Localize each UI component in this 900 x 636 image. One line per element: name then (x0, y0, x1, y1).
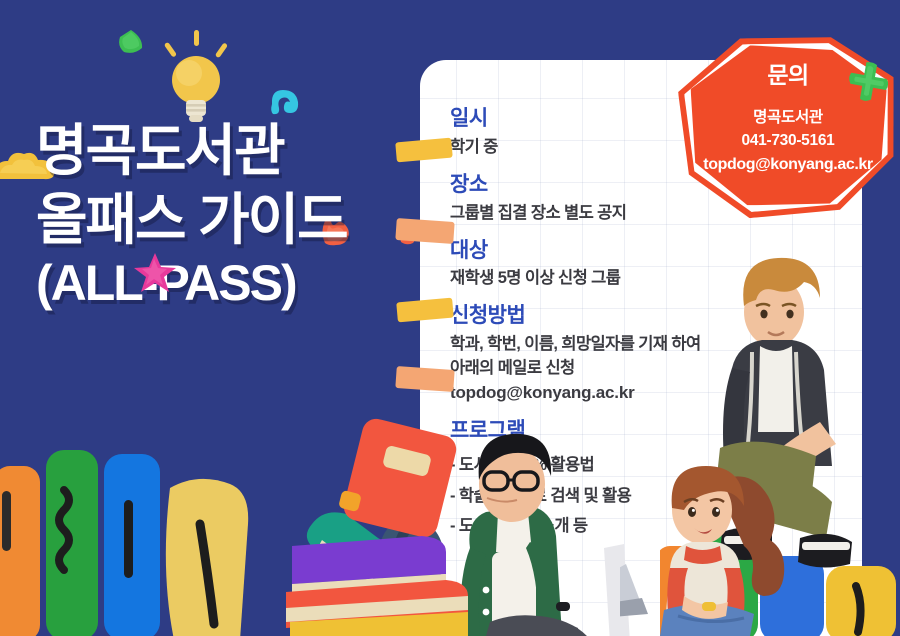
title-line-3: (ALL-PASS) (36, 258, 436, 309)
tape-marker-peach-1 (395, 218, 454, 244)
poster-canvas: 일시 학기 중 장소 그룹별 집결 장소 별도 공지 대상 재학생 5명 이상 … (0, 0, 900, 636)
section-heading: 프로그램 (450, 418, 850, 445)
pink-star-icon (133, 252, 177, 294)
section-line: 아래의 메일로 신청 (450, 357, 850, 381)
badge-org: 명곡도서관 (753, 106, 823, 129)
title-line-2: 올패스 가이드 (36, 191, 436, 248)
badge-email: topdog@konyang.ac.kr (703, 153, 872, 177)
application-email: topdog@konyang.ac.kr (450, 381, 850, 406)
badge-phone: 041-730-5161 (742, 129, 835, 152)
program-item: - 학술전자자료 검색 및 활용 (450, 485, 850, 509)
giant-books-row (0, 450, 248, 636)
info-section-howto: 신청방법 학과, 학번, 이름, 희망일자를 기재 하여 아래의 메일로 신청 … (450, 303, 850, 405)
program-list: - 도서관 100% 활용법 - 학술전자자료 검색 및 활용 - 도서관 관내… (450, 454, 850, 540)
green-triangle-icon (116, 28, 146, 56)
info-section-target: 대상 재학생 5명 이상 신청 그룹 (450, 238, 850, 292)
program-item: - 도서관 관내 소개 등 (450, 515, 850, 539)
cyan-curve-icon (268, 86, 302, 116)
section-line: 학과, 학번, 이름, 희망일자를 기재 하여 (450, 333, 850, 357)
poster-title: 명곡도서관 올패스 가이드 (ALL-PASS) (36, 122, 436, 309)
section-heading: 신청방법 (450, 303, 850, 330)
section-heading: 대상 (450, 238, 850, 265)
section-line: 재학생 5명 이상 신청 그룹 (450, 267, 850, 291)
title-line-1: 명곡도서관 (36, 122, 436, 179)
tape-marker-peach-2 (395, 366, 454, 392)
program-item: - 도서관 100% 활용법 (450, 454, 850, 478)
lightbulb-icon (160, 28, 232, 124)
badge-title: 문의 (767, 56, 808, 90)
green-plus-icon (844, 57, 895, 108)
info-section-program: 프로그램 - 도서관 100% 활용법 - 학술전자자료 검색 및 활용 - 도… (450, 418, 850, 540)
contact-badge: 문의 명곡도서관 041-730-5161 topdog@konyang.ac.… (680, 36, 896, 216)
